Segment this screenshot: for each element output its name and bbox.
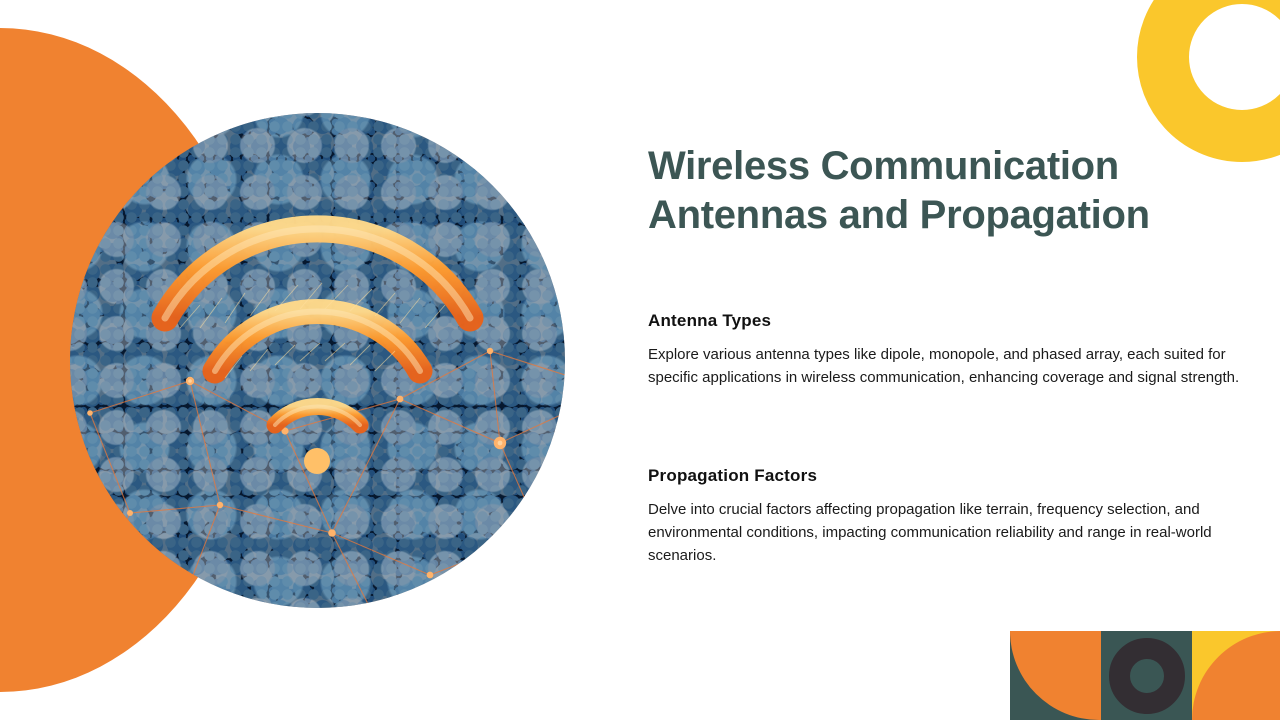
- content-section-propagation-factors: Propagation Factors Delve into crucial f…: [648, 466, 1248, 567]
- dark-ring-icon: [1109, 638, 1185, 714]
- orange-quarter-circle-icon: [1010, 631, 1101, 720]
- section-body-1: Explore various antenna types like dipol…: [648, 344, 1244, 390]
- section-heading-2: Propagation Factors: [648, 466, 1248, 486]
- tile-teal-orange-quarter: [1010, 631, 1101, 720]
- decorative-tile-strip: [1010, 631, 1280, 720]
- section-heading-1: Antenna Types: [648, 311, 1248, 331]
- page-title: Wireless Communication Antennas and Prop…: [648, 142, 1228, 240]
- image-inner: [70, 113, 565, 608]
- wifi-signal-icon: [70, 113, 565, 608]
- tile-teal-dark-ring: [1101, 631, 1192, 720]
- orange-quarter-circle-icon-2: [1192, 631, 1280, 720]
- wifi-network-circle-image: [70, 113, 565, 608]
- tile-yellow-orange-quarter: [1192, 631, 1280, 720]
- content-section-antenna-types: Antenna Types Explore various antenna ty…: [648, 311, 1248, 390]
- yellow-ring-shape: [1137, 0, 1280, 162]
- section-body-2: Delve into crucial factors affecting pro…: [648, 499, 1244, 567]
- slide-canvas: Wireless Communication Antennas and Prop…: [0, 0, 1280, 720]
